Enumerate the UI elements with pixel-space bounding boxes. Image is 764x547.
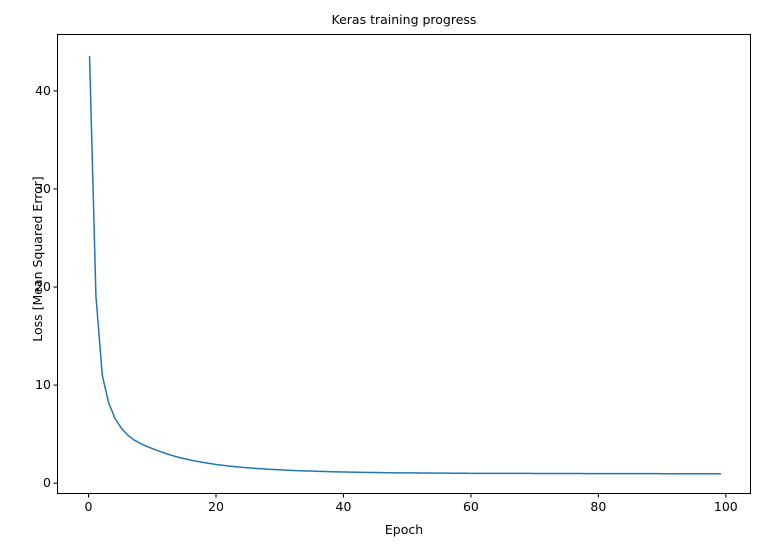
- y-tick-label: 0: [11, 477, 51, 489]
- x-axis-label: Epoch: [57, 523, 751, 537]
- y-tick-label: 40: [11, 85, 51, 97]
- y-axis-tick-labels: 010203040: [6, 34, 51, 494]
- x-tick-label: 80: [568, 500, 628, 514]
- loss-line-series: [90, 57, 721, 474]
- x-tick-label: 0: [59, 500, 119, 514]
- x-tick-label: 100: [696, 500, 756, 514]
- plot-area: [57, 34, 751, 494]
- y-tick-label: 10: [11, 379, 51, 391]
- x-tick-label: 20: [186, 500, 246, 514]
- matplotlib-figure: Keras training progress Loss [Mean Squar…: [0, 0, 764, 547]
- y-tick-label: 20: [11, 281, 51, 293]
- x-tick-label: 40: [313, 500, 373, 514]
- line-chart-svg: [58, 35, 752, 495]
- x-axis-tick-labels: 020406080100: [57, 500, 751, 518]
- y-tick-label: 30: [11, 183, 51, 195]
- x-tick-label: 60: [441, 500, 501, 514]
- chart-title: Keras training progress: [57, 12, 751, 28]
